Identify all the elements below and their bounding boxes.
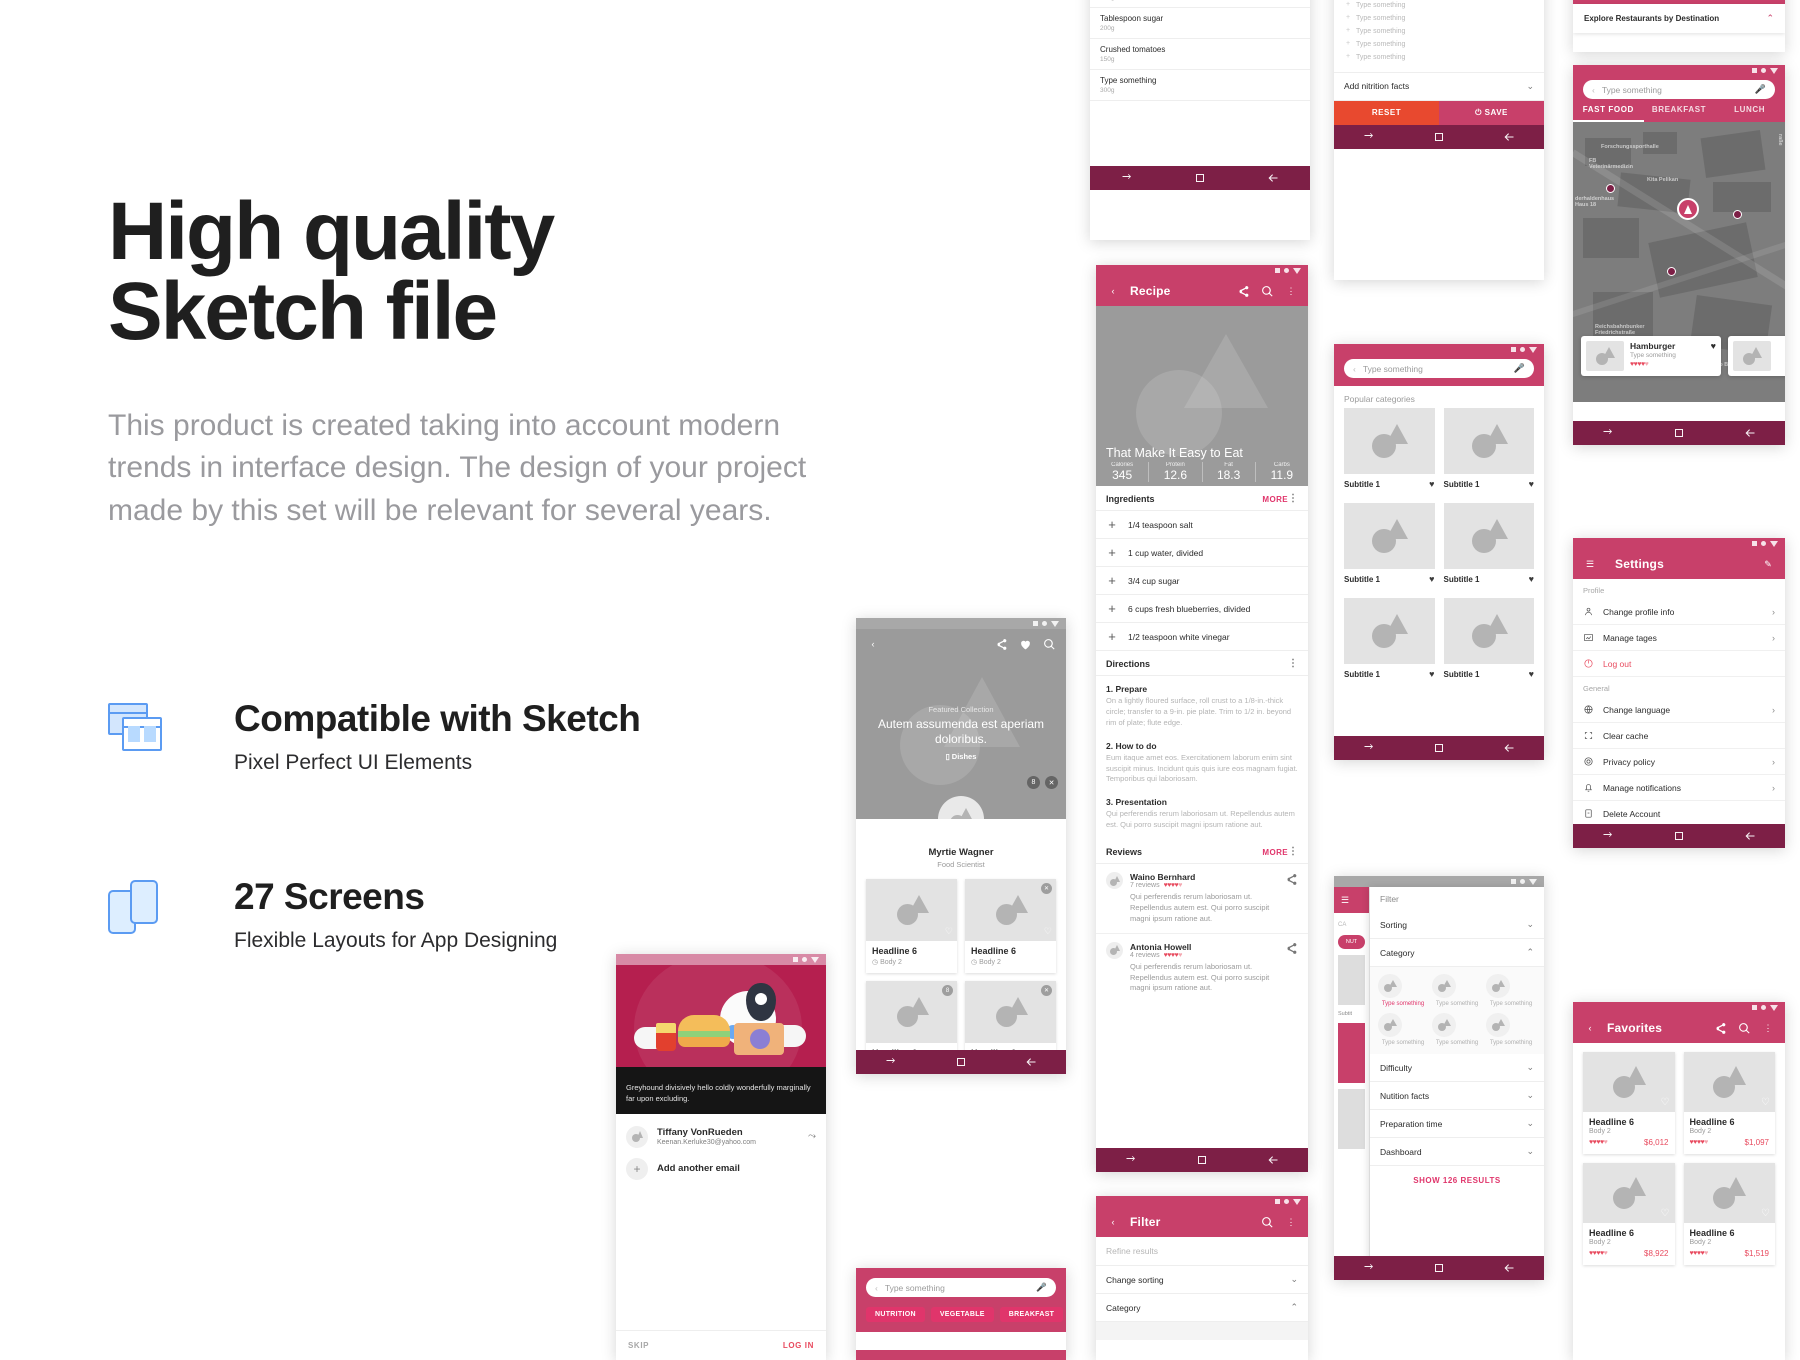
card-thumbnail: ♡	[1684, 1163, 1776, 1223]
status-bar	[616, 954, 826, 965]
ingredient-row[interactable]: +1 cup water, divided	[1096, 539, 1308, 567]
category-icon	[1432, 1013, 1456, 1037]
ingredient-row[interactable]: +1/4 teaspoon salt	[1096, 511, 1308, 539]
overflow-menu-icon[interactable]: ⋮	[1761, 1021, 1775, 1035]
ingredients-header: Ingredients MORE ⋮	[1096, 486, 1308, 511]
chevron-right-icon: ›	[1772, 607, 1775, 617]
reviews-label: Reviews	[1106, 847, 1262, 857]
tag-icon	[1583, 632, 1594, 643]
refine-results-label: Refine results	[1096, 1237, 1308, 1266]
macro-item: Protein12.6	[1149, 462, 1202, 482]
filter-row-difficulty[interactable]: Difficulty⌄	[1370, 1054, 1544, 1082]
category-chip[interactable]: Type something	[1486, 974, 1536, 1009]
favorite-icon[interactable]: ♡	[1761, 1208, 1770, 1219]
category-chip[interactable]: Type something	[1432, 1013, 1482, 1048]
user-badge-icon[interactable]: 8	[1027, 776, 1040, 789]
user-badge-icon[interactable]: 8	[942, 985, 953, 996]
share-icon[interactable]: ⤳	[808, 1131, 816, 1142]
status-bar	[856, 618, 1066, 629]
direction-step: 2. How to do Eum itaque amet eos. Exerci…	[1096, 733, 1308, 790]
directions-header: Directions ⋮	[1096, 651, 1308, 676]
chevron-down-icon: ⌄	[1526, 919, 1534, 930]
step-title: 2. How to do	[1096, 733, 1308, 753]
back-icon	[1503, 131, 1515, 143]
category-chip-label: Type something	[1432, 1040, 1482, 1048]
left-tab-ca[interactable]: CA	[1334, 913, 1369, 931]
category-icon	[1486, 1013, 1510, 1037]
rating-hearts: ♥♥♥♥♥	[1690, 1250, 1708, 1257]
back-icon[interactable]: ‹	[1583, 1021, 1597, 1035]
status-bar	[1573, 538, 1785, 549]
home-icon	[1433, 742, 1445, 754]
search-icon[interactable]	[1042, 637, 1056, 651]
macro-item: Fat18.3	[1203, 462, 1256, 482]
favorite-icon[interactable]: ♥	[1429, 669, 1434, 679]
filter-row-label: Nutition facts	[1380, 1091, 1429, 1101]
nutrition-facts-label: Add nitrition facts	[1344, 81, 1409, 91]
back-icon[interactable]: ‹	[1592, 85, 1595, 95]
hero-block: High quality Sketch file This product is…	[108, 192, 868, 533]
category-tile[interactable]: Subtitle 1 ♥	[1444, 408, 1535, 494]
avatar	[938, 796, 984, 819]
screen-ingredients-checklist: Medium carrots 720g ✓ Garlic cloves, min…	[1090, 0, 1310, 240]
ingredient-qty: 340g	[1100, 0, 1182, 1]
step-title: 3. Presentation	[1096, 789, 1308, 809]
card-body: Body 2	[1589, 1128, 1669, 1135]
back-icon	[1267, 1154, 1279, 1166]
crop-icon	[1583, 730, 1594, 741]
overflow-menu-icon[interactable]: ⋮	[1288, 496, 1298, 502]
macro-row: Calories345 Protein12.6 Fat18.3 Carbs11.…	[1096, 462, 1308, 482]
category-icon	[1486, 974, 1510, 998]
map-tabs: FAST FOOD BREAKFAST LUNCH	[1573, 99, 1785, 122]
reviews-more-link[interactable]: MORE	[1262, 848, 1288, 857]
ingredient-row[interactable]: +6 cups fresh blueberries, divided	[1096, 595, 1308, 623]
ingredient-placeholder[interactable]: Type something	[1344, 0, 1534, 12]
user-name: Tiffany VonRueden	[657, 1127, 799, 1138]
back-icon	[1503, 742, 1515, 754]
close-icon[interactable]: ✕	[1045, 776, 1058, 789]
map-pin[interactable]	[1606, 184, 1615, 193]
screen-title: Recipe	[1130, 284, 1226, 298]
filter-row-dashboard[interactable]: Dashboard⌄	[1370, 1138, 1544, 1166]
feature-desc: Pixel Perfect UI Elements	[234, 751, 640, 775]
tile-label: Subtitle 1	[1444, 480, 1529, 489]
map-place-card[interactable]	[1728, 336, 1785, 376]
close-icon[interactable]: ✕	[1041, 985, 1052, 996]
direction-step: 1. Prepare On a lightly floured surface,…	[1096, 676, 1308, 733]
chevron-down-icon: ⌄	[1526, 1090, 1534, 1101]
tile-thumbnail	[1444, 598, 1535, 664]
nutrition-facts-accordion[interactable]: Add nitrition facts ⌄	[1334, 72, 1544, 101]
step-title: 1. Prepare	[1096, 676, 1308, 696]
ingredient-row[interactable]: +1/2 teaspoon white vinegar	[1096, 623, 1308, 651]
settings-item-label: Change profile info	[1603, 607, 1674, 617]
status-bar	[1334, 344, 1544, 355]
recents-icon	[1363, 742, 1375, 754]
status-bar	[1573, 1002, 1785, 1013]
card-thumbnail: ♡	[1583, 1052, 1675, 1112]
search-placeholder: Type something	[885, 1283, 1030, 1293]
login-button[interactable]: LOG IN	[783, 1341, 814, 1350]
card-thumbnail: ♡	[1684, 1052, 1776, 1112]
chip-nutrition[interactable]: NUTRITION	[866, 1307, 925, 1322]
recents-icon	[1121, 172, 1133, 184]
reviewer-name: Antonia Howell	[1130, 942, 1277, 952]
search-placeholder: Type something	[1363, 364, 1507, 374]
favorite-icon[interactable]: ♥	[1711, 341, 1716, 351]
ingredient-qty: 200g	[1100, 25, 1163, 32]
review-count: 7 reviews	[1130, 882, 1160, 889]
screen-title: Favorites	[1607, 1021, 1703, 1035]
favorite-icon[interactable]: ♡	[1661, 1208, 1670, 1219]
chevron-down-icon: ⌄	[1526, 1062, 1534, 1073]
home-icon	[1433, 1262, 1445, 1274]
chevron-right-icon: ›	[1772, 705, 1775, 715]
card-price: $8,922	[1644, 1249, 1668, 1258]
place-title: Hamburger	[1630, 341, 1711, 351]
search-icon[interactable]	[1260, 1215, 1274, 1229]
favorite-icon[interactable]	[1018, 637, 1032, 651]
category-chip[interactable]: Type something	[1378, 974, 1428, 1009]
screen-featured-collection: ‹ Featured Collection Autem assumenda es…	[856, 618, 1066, 1074]
add-icon[interactable]: +	[1106, 518, 1118, 531]
search-icon[interactable]	[1737, 1021, 1751, 1035]
tab-fast-food[interactable]: FAST FOOD	[1573, 99, 1644, 122]
share-icon[interactable]	[1284, 942, 1298, 956]
save-button[interactable]: ⏻ SAVE	[1439, 101, 1544, 125]
filter-row-category[interactable]: Category ⌃	[1096, 1294, 1308, 1322]
filter-row-change-sorting[interactable]: Change sorting ⌄	[1096, 1266, 1308, 1294]
map-canvas[interactable]: Forschungssporthalle FB Veterinärmedizin…	[1573, 122, 1785, 402]
map-pin[interactable]	[1667, 267, 1676, 276]
left-subtitle: Subtit	[1334, 1011, 1369, 1017]
chevron-right-icon: ›	[1772, 633, 1775, 643]
ingredient-row[interactable]: Tablespoon sugar 200g	[1090, 8, 1310, 39]
ingredients-label: Ingredients	[1106, 494, 1262, 504]
featured-app-bar: ‹	[856, 629, 1066, 659]
chevron-up-icon: ⌃	[1766, 13, 1774, 24]
macro-item: Carbs11.9	[1256, 462, 1308, 482]
tile-label: Subtitle 1	[1444, 575, 1529, 584]
overflow-menu-icon[interactable]: ⋮	[1284, 1215, 1298, 1229]
favorite-icon[interactable]: ♥	[1529, 479, 1534, 489]
chevron-down-icon: ⌄	[1526, 1118, 1534, 1129]
settings-item-manage-tages[interactable]: Manage tages ›	[1573, 625, 1785, 651]
review-body: Qui perferendis rerum laboriosam ut. Rep…	[1130, 962, 1277, 995]
add-icon: +	[626, 1158, 648, 1180]
avatar	[1106, 942, 1123, 959]
back-icon[interactable]: ‹	[1106, 284, 1120, 298]
filter-row-nutrition-facts[interactable]: Nutition facts⌄	[1370, 1082, 1544, 1110]
shield-icon	[1583, 756, 1594, 767]
settings-item-change-profile-info[interactable]: Change profile info ›	[1573, 599, 1785, 625]
chip-breakfast[interactable]: BREAKFAST	[1000, 1307, 1063, 1322]
chevron-right-icon: ›	[1772, 783, 1775, 793]
settings-item-change-language[interactable]: Change language ›	[1573, 697, 1785, 723]
recents-icon	[885, 1056, 897, 1068]
home-icon	[1433, 131, 1445, 143]
android-nav-bar[interactable]	[1573, 421, 1785, 445]
android-nav-bar[interactable]	[1334, 1256, 1544, 1280]
add-icon[interactable]: +	[1106, 602, 1118, 615]
favorite-icon[interactable]: ♡	[1661, 1097, 1670, 1108]
tab-breakfast[interactable]: BREAKFAST	[1644, 99, 1715, 122]
android-nav-bar[interactable]	[856, 1050, 1066, 1074]
map-place-card[interactable]: Hamburger ♥ Type something ♥♥♥♥♥	[1581, 336, 1721, 376]
featured-card[interactable]: ✕ ♡ Headline 6 ◷ Body 2	[965, 879, 1056, 973]
map-label: Forschungssporthalle	[1601, 144, 1659, 150]
page-title: High quality Sketch file	[108, 192, 868, 353]
mic-icon[interactable]: 🎤	[1755, 84, 1766, 95]
back-icon	[1744, 427, 1756, 439]
category-chip[interactable]: Type something	[1378, 1013, 1428, 1048]
reviewer-name: Waino Bernhard	[1130, 872, 1277, 882]
favorite-icon[interactable]: ♥	[1429, 574, 1434, 584]
avatar	[626, 1126, 648, 1148]
recents-icon	[1363, 131, 1375, 143]
card-body: ◷ Body 2	[971, 958, 1050, 966]
overflow-menu-icon[interactable]: ⋮	[1288, 849, 1298, 855]
favorite-icon[interactable]: ♡	[1761, 1097, 1770, 1108]
card-title: Headline 6	[1589, 1117, 1669, 1127]
status-bar	[1334, 876, 1544, 887]
favorite-icon[interactable]: ♡	[945, 926, 953, 937]
ingredient-name: Crushed tomatoes	[1100, 45, 1165, 54]
settings-item-log-out[interactable]: Log out	[1573, 651, 1785, 677]
screen-filter: ‹ Filter ⋮ Refine results Change sorting…	[1096, 1196, 1308, 1360]
left-thumb	[1338, 1089, 1365, 1149]
back-icon[interactable]: ‹	[875, 1283, 878, 1293]
settings-item-manage-notifications[interactable]: Manage notifications ›	[1573, 775, 1785, 801]
favorite-icon[interactable]: ♥	[1529, 669, 1534, 679]
ingredient-placeholder[interactable]: Type something	[1344, 38, 1534, 51]
featured-kicker: Featured Collection	[856, 705, 1066, 714]
tile-thumbnail	[1444, 408, 1535, 474]
ingredient-row[interactable]: Type something 300g	[1090, 70, 1310, 101]
card-title: Headline 6	[971, 946, 1050, 956]
category-tile[interactable]: Subtitle 1 ♥	[1344, 503, 1435, 589]
home-icon	[1194, 172, 1206, 184]
android-nav-bar[interactable]	[1096, 1148, 1308, 1172]
current-location-icon[interactable]	[1677, 198, 1699, 220]
screen-filter-panel: ☰ CA NUT Subtit Filter Sorting ⌄ Categor…	[1334, 876, 1544, 1280]
bell-icon	[1583, 782, 1594, 793]
add-another-email-button[interactable]: + Add another email	[616, 1156, 826, 1190]
category-chip-label: Type something	[1378, 1040, 1428, 1048]
reset-save-bar: RESET ⏻ SAVE	[1334, 101, 1544, 125]
card-title: Headline 6	[872, 946, 951, 956]
back-icon	[1503, 1262, 1515, 1274]
ingredient-row[interactable]: +3/4 cup sugar	[1096, 567, 1308, 595]
favorite-icon[interactable]: ♥	[1429, 479, 1434, 489]
rating-hearts: ♥♥♥♥♥	[1589, 1250, 1607, 1257]
map-pin[interactable]	[1733, 210, 1742, 219]
android-nav-bar[interactable]	[1090, 166, 1310, 190]
account-row[interactable]: Tiffany VonRueden Keenan.Kerluke30@yahoo…	[616, 1114, 826, 1156]
card-title: Headline 6	[1690, 1117, 1770, 1127]
ingredient-qty: 300g	[1100, 87, 1156, 94]
screen-title: Settings	[1607, 557, 1751, 571]
hero-title-line-1: High quality	[108, 192, 868, 272]
ingredient-placeholder[interactable]: Type something	[1344, 25, 1534, 38]
favorite-icon[interactable]: ♥	[1529, 574, 1534, 584]
skip-button[interactable]: SKIP	[628, 1341, 649, 1350]
person-name: Myrtie Wagner	[856, 847, 1066, 858]
search-input[interactable]: ‹ Type something 🎤	[1583, 80, 1775, 99]
card-thumbnail: 8	[866, 981, 957, 1043]
share-icon[interactable]	[1284, 872, 1298, 886]
android-nav-bar[interactable]	[1573, 824, 1785, 848]
category-chip-label: Type something	[1486, 1001, 1536, 1009]
map-label: raße	[1777, 134, 1783, 146]
ingredients-more-link[interactable]: MORE	[1262, 495, 1288, 504]
category-chip[interactable]: Type something	[1486, 1013, 1536, 1048]
avatar	[1106, 872, 1123, 889]
add-icon[interactable]: +	[1106, 630, 1118, 643]
category-tile[interactable]: Subtitle 1 ♥	[1444, 598, 1535, 684]
screen-add-ingredients: Est quidem aliquid sed et fugiat illo om…	[1334, 0, 1544, 280]
person-role: Food Scientist	[856, 860, 1066, 869]
review-item: Antonia Howell 4 reviews ♥♥♥♥♥ Qui perfe…	[1096, 933, 1308, 1003]
favorite-card[interactable]: ♡ Headline 6 Body 2 ♥♥♥♥♥ $8,922	[1583, 1163, 1675, 1265]
ingredient-placeholder[interactable]: Type something	[1344, 51, 1534, 64]
share-icon[interactable]	[994, 637, 1008, 651]
tile-label: Subtitle 1	[1344, 670, 1429, 679]
settings-item-label: Manage tages	[1603, 633, 1657, 643]
chip-vegetable[interactable]: VEGETABLE	[931, 1307, 994, 1322]
screen-recipe: ‹ Recipe ⋮ That Make It Easy to Eat Calo…	[1096, 265, 1308, 1172]
add-icon[interactable]: +	[1106, 546, 1118, 559]
show-results-button[interactable]: SHOW 126 RESULTS	[1370, 1166, 1544, 1195]
favorite-card[interactable]: ♡ Headline 6 Body 2 ♥♥♥♥♥ $1,097	[1684, 1052, 1776, 1154]
globe-icon	[1583, 704, 1594, 715]
close-icon[interactable]: ✕	[1041, 883, 1052, 894]
page-root: High quality Sketch file This product is…	[0, 0, 1800, 1360]
feature-desc: Flexible Layouts for App Designing	[234, 929, 557, 953]
screen-explore-destination: Explore Restaurants by Destination ⌃	[1573, 0, 1785, 52]
card-thumbnail	[1733, 341, 1771, 371]
power-icon	[1583, 658, 1594, 669]
recents-icon	[1602, 427, 1614, 439]
step-body: On a lightly floured surface, roll crust…	[1096, 696, 1308, 733]
featured-hero: ‹ Featured Collection Autem assumenda es…	[856, 629, 1066, 819]
category-icon	[1378, 1013, 1402, 1037]
share-icon[interactable]	[1713, 1021, 1727, 1035]
left-thumb	[1338, 955, 1365, 1005]
category-tile[interactable]: Subtitle 1 ♥	[1344, 408, 1435, 494]
step-body: Qui perferendis rerum laboriosam ut. Rep…	[1096, 809, 1308, 835]
rating-hearts: ♥♥♥♥♥	[1690, 1139, 1708, 1146]
category-icon	[1378, 974, 1402, 998]
overflow-menu-icon[interactable]: ⋮	[1284, 284, 1298, 298]
card-thumbnail: ✕	[965, 981, 1056, 1043]
category-chip[interactable]: Type something	[1432, 974, 1482, 1009]
filter-row-label: Dashboard	[1380, 1147, 1422, 1157]
category-tile[interactable]: Subtitle 1 ♥	[1344, 598, 1435, 684]
favorite-card[interactable]: ♡ Headline 6 Body 2 ♥♥♥♥♥ $1,519	[1684, 1163, 1776, 1265]
settings-item-clear-cache[interactable]: Clear cache	[1573, 723, 1785, 749]
left-tab-nut[interactable]: NUT	[1338, 935, 1365, 949]
explore-accordion[interactable]: Explore Restaurants by Destination ⌃	[1573, 4, 1785, 33]
edit-icon[interactable]: ✎	[1761, 557, 1775, 571]
home-icon	[1673, 830, 1685, 842]
add-icon[interactable]: +	[1106, 574, 1118, 587]
back-icon	[1267, 172, 1279, 184]
ingredient-placeholder[interactable]: Type something	[1344, 12, 1534, 25]
category-tile[interactable]: Subtitle 1 ♥	[1444, 503, 1535, 589]
tab-lunch[interactable]: LUNCH	[1714, 99, 1785, 122]
search-input[interactable]: ‹ Type something 🎤	[866, 1278, 1056, 1297]
featured-tag: ▯ Dishes	[856, 752, 1066, 761]
settings-item-label: Clear cache	[1603, 731, 1648, 741]
screen-title: Filter	[1130, 1215, 1250, 1229]
back-icon[interactable]: ‹	[1353, 364, 1356, 374]
hero-description: This product is created taking into acco…	[108, 405, 868, 533]
settings-item-privacy-policy[interactable]: Privacy policy ›	[1573, 749, 1785, 775]
step-body: Eum itaque amet eos. Exercitationem labo…	[1096, 753, 1308, 790]
category-accordion[interactable]: Category ⌃	[1370, 939, 1544, 967]
reset-button[interactable]: RESET	[1334, 101, 1439, 125]
favorite-icon[interactable]: ♡	[1044, 926, 1052, 937]
home-icon	[1673, 427, 1685, 439]
sorting-label: Sorting	[1380, 920, 1407, 930]
back-icon[interactable]: ‹	[866, 637, 880, 651]
macro-item: Calories345	[1096, 462, 1149, 482]
card-title: Headline 6	[1589, 1228, 1669, 1238]
settings-group-label: General	[1573, 677, 1785, 697]
share-icon[interactable]	[1236, 284, 1250, 298]
settings-app-bar: ☰ Settings ✎	[1573, 549, 1785, 579]
menu-icon[interactable]: ☰	[1583, 557, 1597, 571]
screen-popular-categories: ‹ Type something 🎤 Popular categories Su…	[1334, 344, 1544, 760]
mic-icon[interactable]: 🎤	[1514, 363, 1525, 374]
search-input[interactable]: ‹ Type something 🎤	[1344, 359, 1534, 378]
featured-card[interactable]: ♡ Headline 6 ◷ Body 2	[866, 879, 957, 973]
explore-label: Explore Restaurants by Destination	[1584, 14, 1766, 23]
android-nav-bar[interactable]	[1334, 125, 1544, 149]
chevron-down-icon: ⌄	[1526, 81, 1534, 92]
recents-icon	[1602, 830, 1614, 842]
recipe-hero-image: That Make It Easy to Eat Calories345 Pro…	[1096, 306, 1308, 486]
overflow-menu-icon[interactable]: ⋮	[1288, 661, 1298, 667]
android-nav-bar[interactable]	[1334, 736, 1544, 760]
feature-title: Compatible with Sketch	[234, 700, 640, 737]
filter-app-bar: ‹ Filter ⋮	[1096, 1207, 1308, 1237]
ingredient-row[interactable]: Garlic cloves, minced 340g ✓	[1090, 0, 1310, 8]
category-icon	[1432, 974, 1456, 998]
directions-label: Directions	[1106, 659, 1288, 669]
ingredient-row[interactable]: Crushed tomatoes 150g	[1090, 39, 1310, 70]
sorting-accordion[interactable]: Sorting ⌄	[1370, 911, 1544, 939]
chevron-down-icon: ⌄	[1290, 1274, 1298, 1285]
user-email: Keenan.Kerluke30@yahoo.com	[657, 1139, 799, 1146]
filter-row-preparation-time[interactable]: Preparation time⌄	[1370, 1110, 1544, 1138]
settings-item-label: Delete Account	[1603, 809, 1660, 819]
card-title: Headline 6	[1690, 1228, 1770, 1238]
favorites-app-bar: ‹ Favorites ⋮	[1573, 1013, 1785, 1043]
menu-icon[interactable]: ☰	[1334, 887, 1369, 913]
search-icon[interactable]	[1260, 284, 1274, 298]
screen-email-accounts: Greyhound divisively hello coldly wonder…	[616, 954, 826, 1360]
filter-row-label: Category	[1106, 1303, 1141, 1313]
left-thumb	[1338, 1023, 1365, 1083]
mic-icon[interactable]: 🎤	[1036, 1282, 1047, 1293]
favorite-card[interactable]: ♡ Headline 6 Body 2 ♥♥♥♥♥ $6,012	[1583, 1052, 1675, 1154]
place-subtitle: Type something	[1630, 352, 1716, 359]
map-label: derhaldenhaus Haus 18	[1575, 196, 1627, 208]
back-icon[interactable]: ‹	[1106, 1215, 1120, 1229]
